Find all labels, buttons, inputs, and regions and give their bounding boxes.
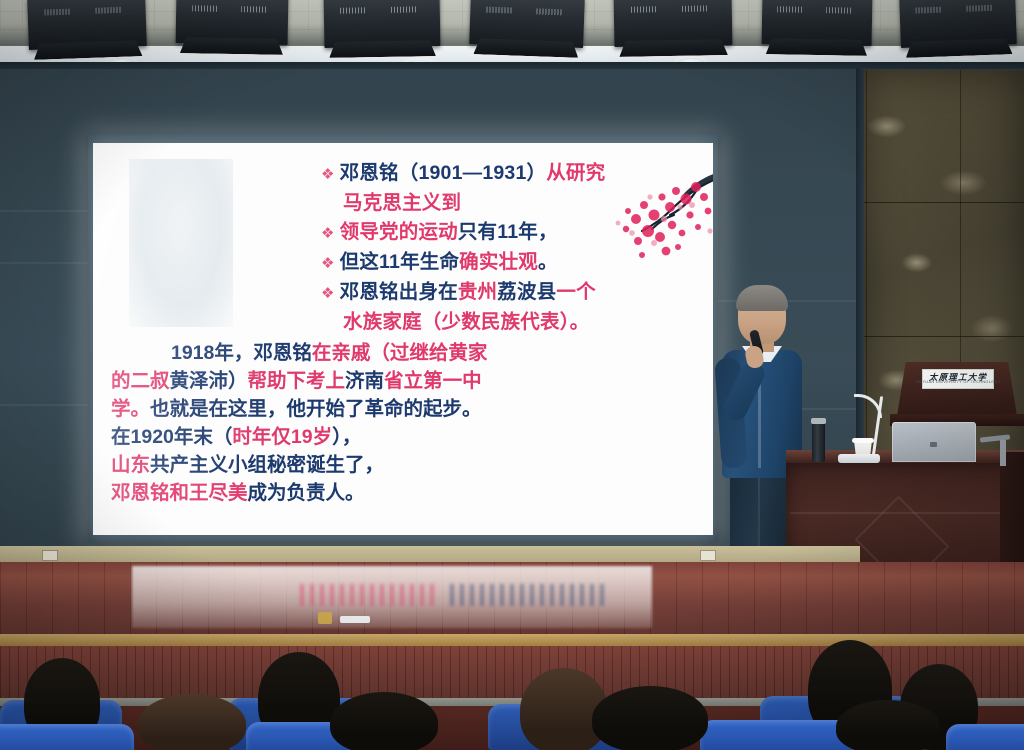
slide-text-segment: 也就是在这里，他开始了革命的起步。 — [150, 398, 482, 420]
water-bottle — [812, 422, 825, 462]
laptop-logo-icon — [930, 442, 937, 447]
slide-text-segment: 黄泽沛） — [170, 370, 248, 392]
slide-text-segment: 1918年，邓恩铭 — [171, 342, 312, 364]
slide-text-segment: 马克思主义到 — [343, 192, 461, 214]
slide-text-segment: 时年仅19岁 — [232, 426, 332, 448]
slide-text-segment: 帮助下考上 — [248, 370, 346, 392]
bullet-diamond-icon: ❖ — [321, 285, 335, 302]
slide-paragraph-line: 邓恩铭和王尽美成为负责人。 — [111, 479, 707, 507]
slide-paragraph-line: 的二叔黄泽沛）帮助下考上济南省立第一中 — [111, 367, 707, 395]
floor-reflection-red-text — [300, 584, 440, 606]
audience-seat — [946, 724, 1024, 750]
slide-text-segment: 荔波县 — [497, 281, 556, 303]
slide-text-segment: 成为负责人。 — [248, 482, 365, 504]
slide-text-segment: 王尽美 — [189, 482, 248, 504]
wall-seam — [0, 404, 90, 406]
slide-text-segment: 邓恩铭出身在 — [340, 281, 458, 303]
slide-text-segment: 省立第一中 — [384, 370, 482, 392]
slide-bullet-list: ❖邓恩铭（1901—1931）从研究马克思主义到❖领导党的运动只有11年，❖但这… — [321, 159, 713, 337]
slide-text-segment: 只有11年， — [458, 221, 558, 243]
slide-bullet-line: ❖邓恩铭出身在贵州荔波县一个 — [321, 278, 713, 308]
slide-text-segment: 济南 — [345, 370, 384, 392]
ceiling-stage-light — [324, 0, 441, 48]
slide-bullet-line: ❖邓恩铭（1901—1931）从研究 — [321, 159, 713, 189]
presenter-hair — [736, 285, 788, 311]
audience-head — [330, 692, 438, 750]
wall-outlet — [42, 550, 58, 561]
floor-object-paper — [340, 616, 370, 623]
stage-edge-trim — [0, 634, 1024, 646]
presentation-slide: ❖邓恩铭（1901—1931）从研究马克思主义到❖领导党的运动只有11年，❖但这… — [93, 143, 713, 535]
slide-paragraph-line: 山东共产主义小组秘密诞生了， — [111, 451, 707, 479]
floor-object-block — [318, 612, 332, 624]
slide-text-segment: 在1920年末（ — [111, 426, 232, 448]
slide-text-segment: 邓恩铭（1901—1931） — [340, 162, 547, 184]
bullet-diamond-icon: ❖ — [321, 225, 335, 242]
bullet-diamond-icon: ❖ — [321, 255, 335, 272]
ceiling-stage-light — [762, 0, 873, 46]
slide-bullet-line: 水族家庭（少数民族代表）。 — [321, 308, 713, 337]
slide-text-segment: 一个 — [556, 281, 595, 303]
slide-text-segment: 学。 — [111, 398, 150, 420]
wall-top-trim — [0, 62, 1024, 69]
slide-paragraph: 1918年，邓恩铭在亲戚（过继给黄家的二叔黄泽沛）帮助下考上济南省立第一中学。也… — [111, 339, 707, 507]
slide-bullet-line: ❖但这11年生命确实壮观。 — [321, 248, 713, 278]
slide-text-segment: 的二叔 — [111, 370, 170, 392]
water-bottle-cap — [811, 418, 826, 424]
slide-text-segment: 从研究 — [546, 162, 605, 184]
slide-bullet-line: ❖领导党的运动只有11年， — [321, 218, 713, 248]
wall-outlet — [700, 550, 716, 561]
audience-head — [592, 686, 708, 750]
gooseneck-microphone — [846, 396, 888, 462]
venue-name-en: TAIYUAN UNIVERSITY OF TECHNOLOGY — [916, 382, 1001, 386]
wall-seam — [0, 262, 90, 264]
audience-head — [138, 694, 246, 750]
slide-text-segment: 贵州 — [458, 281, 497, 303]
slide-paragraph-line: 在1920年末（时年仅19岁）， — [111, 423, 707, 451]
slide-paragraph-line: 学。也就是在这里，他开始了革命的起步。 — [111, 395, 707, 423]
ceiling-stage-light — [899, 0, 1017, 48]
audience-head — [836, 700, 940, 750]
slide-paragraph-line: 1918年，邓恩铭在亲戚（过继给黄家 — [111, 339, 707, 367]
slide-text-segment: 共产主义小组秘密诞生了， — [150, 454, 384, 476]
floor-reflection-blue-text — [450, 584, 610, 606]
slide-text-segment: 在亲戚（过继给黄家 — [312, 342, 488, 364]
slide-text-segment: 山东 — [111, 454, 150, 476]
slide-text-segment: 。 — [538, 251, 558, 273]
slide-text-segment: ）， — [332, 426, 361, 448]
slide-text-segment: 水族家庭（少数民族代表）。 — [343, 311, 589, 333]
bullet-diamond-icon: ❖ — [321, 166, 335, 183]
audience-seat — [0, 724, 134, 750]
slide-text-segment: 但这11年生命 — [340, 251, 460, 273]
monitor-post — [1000, 440, 1006, 466]
ceiling-stage-light — [469, 0, 585, 48]
deng-enming-portrait — [129, 159, 233, 327]
ceiling-stage-light — [176, 0, 289, 45]
ceiling-stage-light — [27, 0, 147, 50]
slide-text-segment: 邓恩铭和 — [111, 482, 189, 504]
slide-text-segment: 领导党的运动 — [340, 221, 458, 243]
slide-text-segment: 确实壮观 — [459, 251, 538, 273]
wall-seam — [0, 210, 90, 212]
venue-name-plaque: 太原理工大学 TAIYUAN UNIVERSITY OF TECHNOLOGY — [922, 369, 994, 389]
projection-screen: ❖邓恩铭（1901—1931）从研究马克思主义到❖领导党的运动只有11年，❖但这… — [93, 143, 713, 535]
slide-bullet-line: 马克思主义到 — [321, 189, 713, 218]
ceiling-stage-light — [614, 0, 733, 47]
lecture-hall-photo: ❖邓恩铭（1901—1931）从研究马克思主义到❖领导党的运动只有11年，❖但这… — [0, 0, 1024, 750]
